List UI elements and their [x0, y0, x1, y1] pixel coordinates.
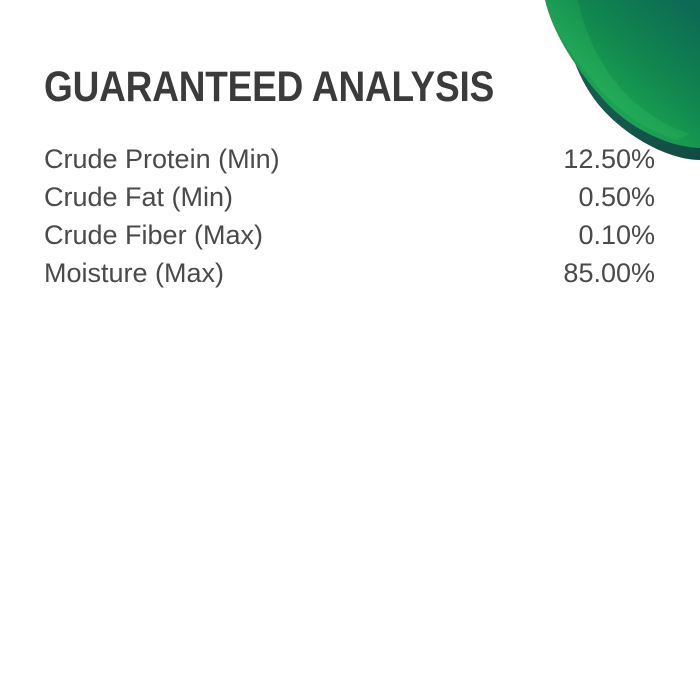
nutrient-label: Moisture (Max)	[44, 254, 484, 292]
nutrient-label: Crude Fiber (Max)	[44, 216, 484, 254]
table-row: Crude Fiber (Max) 0.10%	[44, 216, 655, 254]
nutrient-value: 85.00%	[484, 254, 655, 292]
guaranteed-analysis-panel: GUARANTEED ANALYSIS Crude Protein (Min) …	[0, 0, 700, 700]
table-row: Crude Fat (Min) 0.50%	[44, 178, 655, 216]
swoosh-front-layer	[545, 0, 700, 148]
nutrient-value: 0.10%	[484, 216, 655, 254]
table-row: Crude Protein (Min) 12.50%	[44, 140, 655, 178]
guaranteed-analysis-table: Crude Protein (Min) 12.50% Crude Fat (Mi…	[44, 140, 655, 292]
nutrient-value: 12.50%	[484, 140, 655, 178]
nutrient-value: 0.50%	[484, 178, 655, 216]
swoosh-highlight-stripe	[545, 0, 690, 140]
swoosh-back-layer	[562, 0, 700, 160]
table-row: Moisture (Max) 85.00%	[44, 254, 655, 292]
page-title: GUARANTEED ANALYSIS	[44, 64, 494, 110]
nutrient-label: Crude Protein (Min)	[44, 140, 484, 178]
nutrient-label: Crude Fat (Min)	[44, 178, 484, 216]
